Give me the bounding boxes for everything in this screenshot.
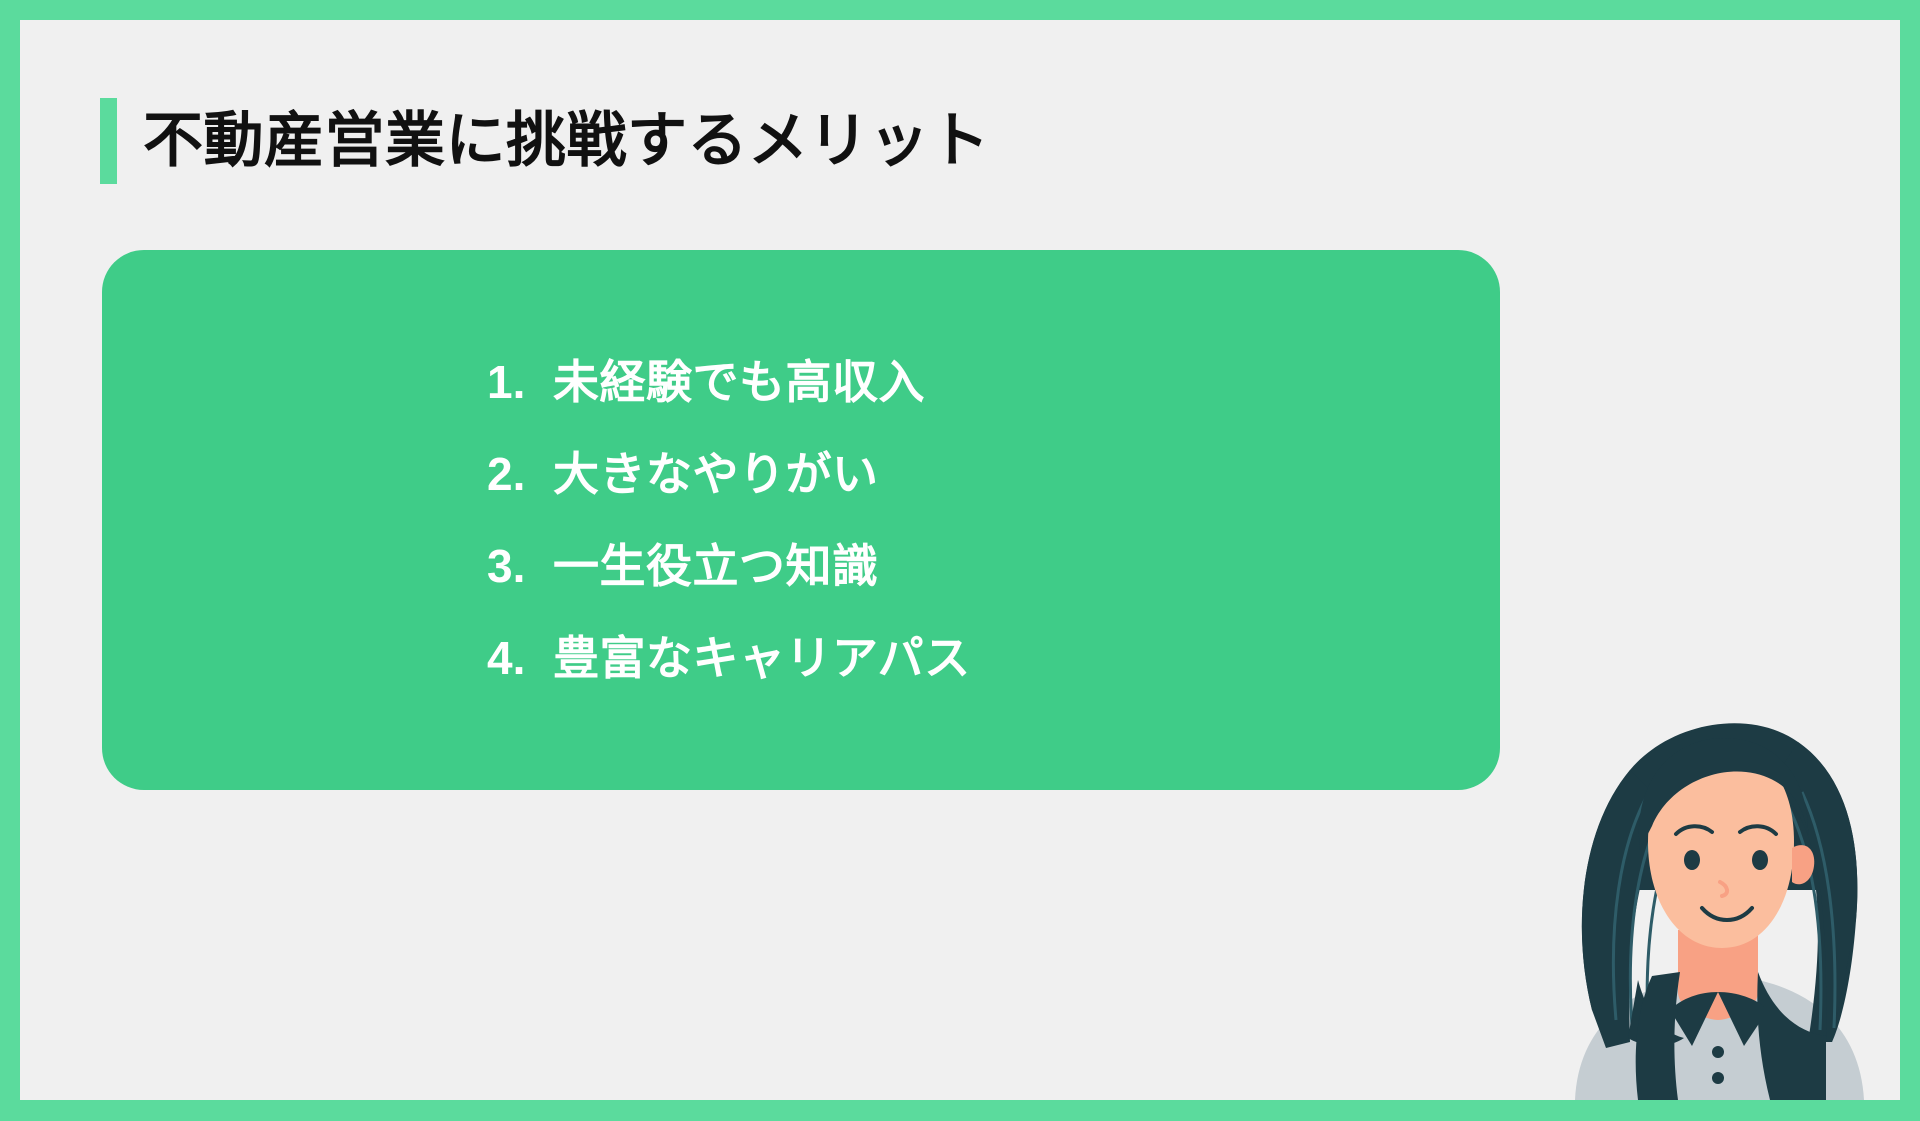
- hair-shoulder-left: [1628, 980, 1684, 1046]
- hair-fringe-shape: [1639, 738, 1808, 850]
- list-item-label: 一生役立つ知識: [553, 543, 879, 589]
- hair-right-strand: [1772, 742, 1857, 1042]
- page-title: 不動産営業に挑戦するメリット: [100, 98, 990, 184]
- woman-illustration: [1520, 680, 1900, 1100]
- title-accent-bar: [100, 98, 117, 184]
- collar-left-shape: [1670, 992, 1718, 1046]
- hair-highlight-lines: [1613, 784, 1835, 1030]
- right-eye-shape: [1752, 850, 1768, 870]
- list-item: 1. 未経験でも高収入: [487, 336, 1500, 428]
- list-item-label: 大きなやりがい: [553, 451, 879, 497]
- hair-shoulder-right: [1757, 972, 1826, 1100]
- list-item-label: 未経験でも高収入: [553, 359, 925, 405]
- list-item-number: 2.: [487, 451, 553, 497]
- eyebrows-shape: [1676, 826, 1776, 834]
- list-item: 2. 大きなやりがい: [487, 428, 1500, 520]
- list-item-number: 4.: [487, 635, 553, 681]
- nose-shape: [1720, 882, 1727, 896]
- shirt-shape: [1575, 980, 1864, 1100]
- ear-shape: [1792, 845, 1814, 884]
- mouth-shape: [1702, 908, 1752, 920]
- slide-canvas: 不動産営業に挑戦するメリット 1. 未経験でも高収入 2. 大きなやりがい 3.…: [20, 20, 1900, 1100]
- slide-frame: 不動産営業に挑戦するメリット 1. 未経験でも高収入 2. 大きなやりがい 3.…: [0, 0, 1920, 1121]
- benefits-card: 1. 未経験でも高収入 2. 大きなやりがい 3. 一生役立つ知識 4. 豊富な…: [102, 250, 1500, 790]
- list-item: 3. 一生役立つ知識: [487, 520, 1500, 612]
- list-item-number: 3.: [487, 543, 553, 589]
- title-label: 不動産営業に挑戦するメリット: [143, 111, 990, 171]
- hair-left-strand: [1582, 770, 1670, 1048]
- list-item-number: 1.: [487, 359, 553, 405]
- collar-right-shape: [1718, 992, 1768, 1046]
- list-item-label: 豊富なキャリアパス: [553, 635, 971, 681]
- benefits-list: 1. 未経験でも高収入 2. 大きなやりがい 3. 一生役立つ知識 4. 豊富な…: [487, 336, 1500, 704]
- face-shape: [1648, 746, 1794, 948]
- shirt-buttons: [1712, 1046, 1724, 1084]
- hair-shoulder-left-long: [1636, 972, 1680, 1100]
- left-eye-shape: [1684, 850, 1700, 870]
- list-item: 4. 豊富なキャリアパス: [487, 612, 1500, 704]
- hair-back-shape: [1582, 723, 1858, 1042]
- neck-shape: [1678, 930, 1758, 1020]
